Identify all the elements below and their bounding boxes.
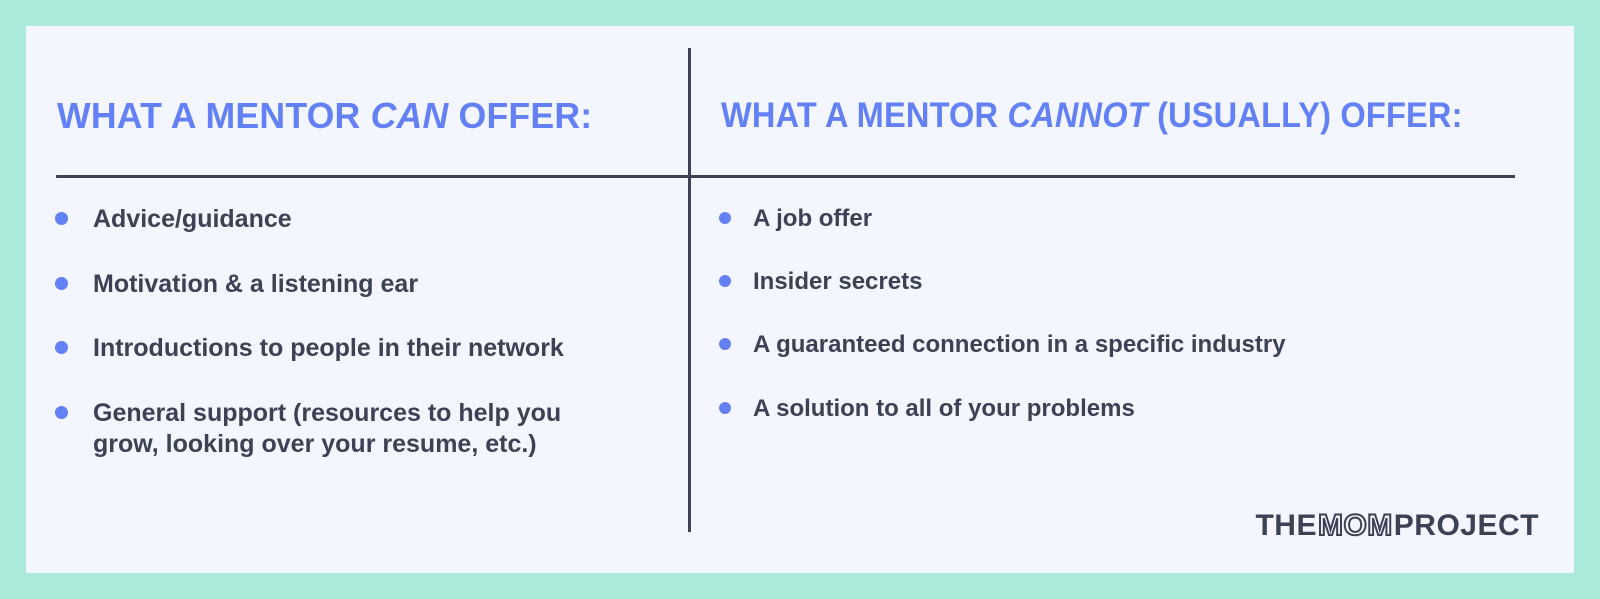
heading-suffix: OFFER: [448, 95, 592, 136]
list-item: A solution to all of your problems [719, 394, 1574, 424]
bullet-dot-icon [55, 212, 68, 225]
bullet-dot-icon [719, 338, 731, 350]
content-panel: WHAT A MENTOR CAN OFFER: Advice/guidance… [26, 26, 1574, 573]
list-item-label: A job offer [753, 204, 872, 234]
list-item: Motivation & a listening ear [55, 269, 688, 301]
logo-the: THE [1255, 511, 1317, 541]
list-item: A job offer [719, 204, 1574, 234]
heading-suffix: (USUALLY) OFFER: [1148, 96, 1463, 135]
heading-prefix: WHAT A MENTOR [57, 95, 371, 136]
column-can-offer: WHAT A MENTOR CAN OFFER: Advice/guidance… [26, 26, 688, 573]
heading-prefix: WHAT A MENTOR [721, 96, 1007, 135]
list-item-label: Motivation & a listening ear [93, 269, 418, 301]
column-heading-cannot: WHAT A MENTOR CANNOT (USUALLY) OFFER: [721, 98, 1463, 133]
heading-emphasis-can: CAN [371, 95, 449, 136]
list-item: General support (resources to help you g… [55, 398, 688, 461]
list-item: Advice/guidance [55, 204, 688, 236]
list-item: Introductions to people in their network [55, 333, 688, 365]
the-mom-project-logo: THEMOMPROJECT [1255, 511, 1539, 541]
bullet-dot-icon [55, 341, 68, 354]
list-item: A guaranteed connection in a specific in… [719, 330, 1574, 360]
list-item-label: A guaranteed connection in a specific in… [753, 330, 1286, 360]
mentor-expectations-graphic: WHAT A MENTOR CAN OFFER: Advice/guidance… [0, 0, 1600, 599]
bullet-dot-icon [719, 212, 731, 224]
bullet-dot-icon [55, 406, 68, 419]
bullet-list-cannot: A job offer Insider secrets A guaranteed… [688, 204, 1574, 457]
bullet-list-can: Advice/guidance Motivation & a listening… [26, 204, 688, 494]
column-cannot-offer: WHAT A MENTOR CANNOT (USUALLY) OFFER: A … [688, 26, 1574, 573]
bullet-dot-icon [719, 402, 731, 414]
list-item-label: Insider secrets [753, 267, 922, 297]
list-item-label: A solution to all of your problems [753, 394, 1135, 424]
heading-emphasis-cannot: CANNOT [1007, 96, 1147, 135]
column-heading-can: WHAT A MENTOR CAN OFFER: [57, 98, 592, 134]
logo-project: PROJECT [1394, 511, 1539, 541]
list-item-label: General support (resources to help you g… [93, 398, 633, 461]
bullet-dot-icon [719, 275, 731, 287]
logo-mom-outline: MOM [1318, 511, 1393, 541]
list-item-label: Advice/guidance [93, 204, 292, 236]
bullet-dot-icon [55, 277, 68, 290]
list-item: Insider secrets [719, 267, 1574, 297]
list-item-label: Introductions to people in their network [93, 333, 564, 365]
